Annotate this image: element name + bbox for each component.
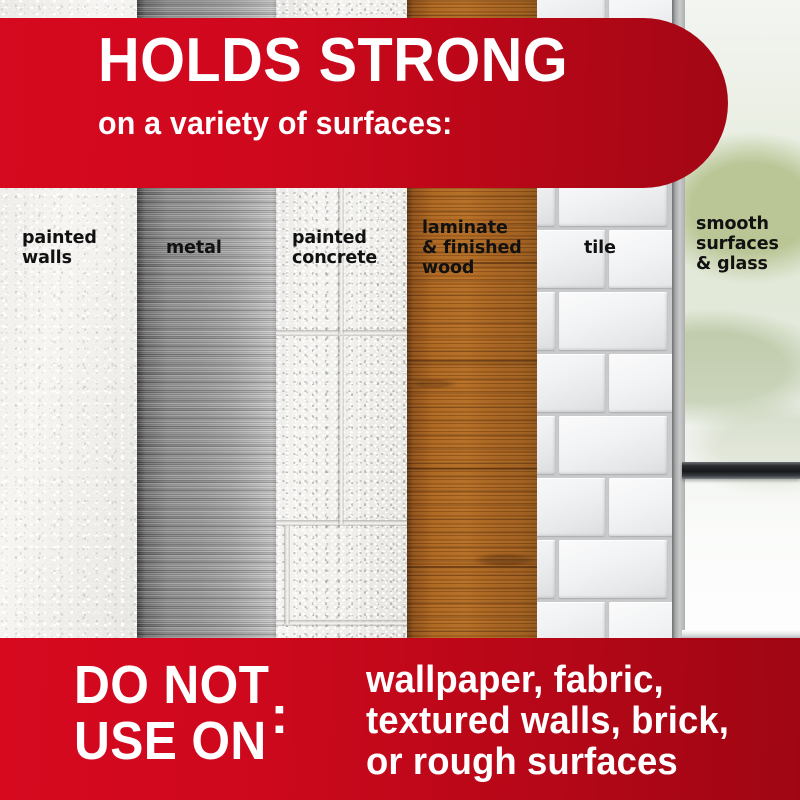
mortar-joint — [338, 336, 344, 524]
tile — [609, 478, 672, 536]
tile-row — [537, 290, 672, 352]
do-not-use-banner: DO NOT USE ON : wallpaper, fabric, textu… — [0, 638, 800, 800]
window-mullion — [682, 462, 800, 479]
surface-label-tile: tile — [584, 238, 616, 258]
tile-row — [537, 476, 672, 538]
window-sill — [682, 630, 800, 638]
banner-subtitle: on a variety of surfaces: — [98, 106, 452, 140]
tile — [559, 540, 667, 598]
surface-label-painted-walls: painted walls — [22, 228, 97, 268]
tile — [537, 416, 555, 474]
surface-label-metal: metal — [166, 238, 222, 258]
tile-row — [537, 538, 672, 600]
mortar-joint — [284, 526, 290, 624]
tile — [537, 292, 555, 350]
plank-seam — [407, 468, 537, 471]
plank-seam — [407, 566, 537, 569]
surface-label-smooth-glass: smooth surfaces & glass — [696, 214, 779, 274]
tile — [559, 416, 667, 474]
surface-compatibility-graphic: painted walls metal painted concrete lam… — [0, 0, 800, 800]
tile — [609, 230, 672, 288]
do-not-use-list: wallpaper, fabric, textured walls, brick… — [366, 660, 729, 783]
banner-title: HOLDS STRONG — [98, 30, 568, 92]
tile — [559, 292, 667, 350]
tile — [537, 478, 605, 536]
surface-label-laminate-wood: laminate & finished wood — [422, 218, 522, 278]
surface-label-painted-concrete: painted concrete — [292, 228, 377, 268]
do-not-use-heading: DO NOT USE ON — [74, 657, 269, 769]
mortar-joint — [276, 620, 407, 626]
do-not-use-colon: : — [270, 687, 288, 743]
tile-row — [537, 352, 672, 414]
tile — [609, 354, 672, 412]
tile — [537, 354, 605, 412]
tile-row — [537, 414, 672, 476]
tile — [537, 540, 555, 598]
do-not-use-heading-block: DO NOT USE ON : — [74, 657, 288, 769]
plank-seam — [407, 360, 537, 363]
